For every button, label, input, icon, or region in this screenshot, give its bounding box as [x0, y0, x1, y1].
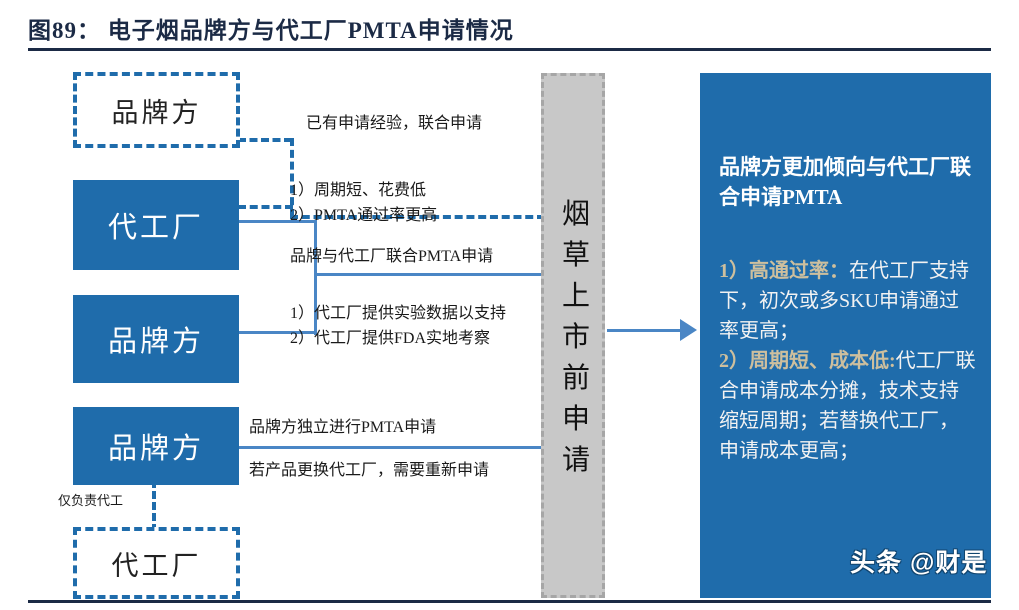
watermark: 头条 @财是 [850, 543, 990, 577]
caption-brand-solo: 品牌方独立进行PMTA申请 [249, 416, 436, 440]
panel-item-1-highlight: 1）高通过率： [719, 260, 849, 282]
footer-divider [28, 600, 991, 603]
dashed-connector-oem-bottom [152, 480, 156, 532]
node-brand-low[interactable]: 品牌方 [73, 407, 239, 485]
arrow-shaft-pillar-to-panel [607, 329, 685, 332]
node-oem-bottom-dashed[interactable]: 代工厂 [73, 527, 240, 599]
caption-joint-pmta: 品牌与代工厂联合PMTA申请 [290, 245, 493, 269]
node-oem-mid[interactable]: 代工厂 [73, 180, 239, 270]
panel-body: 1）高通过率：在代工厂支持下，初次或多SKU申请通过率更高； 2）周期短、成本低… [719, 256, 977, 466]
pillar-char: 烟 [544, 194, 608, 235]
caption-oem-support-2: 2）代工厂提供FDA实地考察 [290, 327, 490, 351]
line-bracket-to-pillar [314, 273, 544, 276]
caption-brand-change-oem: 若产品更换代工厂，需要重新申请 [249, 459, 489, 483]
node-label: 品牌方 [112, 91, 202, 130]
pillar-char: 草 [544, 235, 608, 276]
page-title: 图89： 电子烟品牌方与代工厂PMTA申请情况 [28, 11, 514, 45]
caption-joint-experience: 已有申请经验，联合申请 [306, 112, 482, 136]
caption-oem-benefit-2: 2）PMTA通过率更高 [290, 204, 437, 228]
caption-oem-only: 仅负责代工 [58, 491, 123, 511]
node-label: 代工厂 [112, 544, 202, 583]
dashed-connector-brand-top-h1 [238, 138, 292, 142]
conclusion-panel[interactable]: 品牌方更加倾向与代工厂联合申请PMTA 1）高通过率：在代工厂支持下，初次或多S… [700, 73, 991, 598]
node-label: 品牌方 [108, 425, 204, 467]
title-divider [28, 48, 991, 51]
panel-item-2-highlight: 2）周期短、成本低: [719, 350, 896, 372]
pillar-char: 申 [544, 399, 608, 440]
figure-header: 图89： 电子烟品牌方与代工厂PMTA申请情况 [0, 0, 1019, 55]
diagram-canvas: 品牌方 代工厂 品牌方 品牌方 代工厂 已有申请经验，联合申请 1）周期短、花费… [0, 55, 1019, 600]
caption-oem-benefit-1: 1）周期短、花费低 [290, 179, 426, 203]
node-label: 品牌方 [108, 318, 204, 360]
node-brand-top-dashed[interactable]: 品牌方 [73, 72, 240, 148]
pillar-char: 上 [544, 276, 608, 317]
pillar-char: 请 [544, 440, 608, 481]
pillar-label: 烟 草 上 市 前 申 请 [544, 194, 608, 481]
panel-item-1: 1）高通过率：在代工厂支持下，初次或多SKU申请通过率更高； [719, 256, 977, 346]
panel-heading: 品牌方更加倾向与代工厂联合申请PMTA [719, 152, 974, 212]
node-brand-mid[interactable]: 品牌方 [73, 295, 239, 383]
node-label: 代工厂 [108, 204, 204, 246]
arrow-head-icon [680, 319, 697, 341]
pillar-char: 前 [544, 358, 608, 399]
line-brand-low-to-pillar [238, 446, 545, 449]
panel-item-2: 2）周期短、成本低:代工厂联合申请成本分摊，技术支持缩短周期；若替换代工厂，申请… [719, 346, 977, 466]
pillar-pre-market-application[interactable]: 烟 草 上 市 前 申 请 [541, 73, 605, 598]
caption-oem-support-1: 1）代工厂提供实验数据以支持 [290, 302, 506, 326]
dashed-connector-oem-mid [238, 205, 293, 209]
pillar-char: 市 [544, 317, 608, 358]
